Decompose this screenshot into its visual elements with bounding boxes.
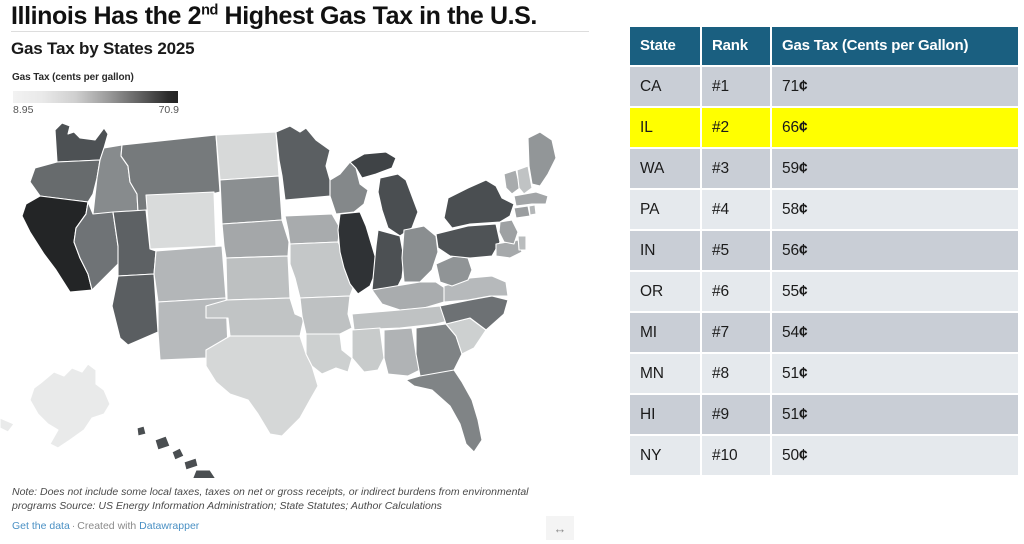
- cell-rank: #4: [702, 190, 770, 229]
- state-HI[interactable]: [137, 426, 218, 478]
- cents-symbol: ¢: [799, 447, 808, 464]
- table-row[interactable]: WA#359¢: [630, 149, 1018, 188]
- cents-symbol: ¢: [799, 365, 808, 382]
- gas-tax-table: State Rank Gas Tax (Cents per Gallon) CA…: [628, 25, 1020, 477]
- table-header-row: State Rank Gas Tax (Cents per Gallon): [630, 27, 1018, 65]
- title-divider: [11, 31, 589, 32]
- column-header-gas-tax[interactable]: Gas Tax (Cents per Gallon): [772, 27, 1018, 65]
- cents-symbol: ¢: [799, 406, 808, 423]
- resize-handle-icon[interactable]: ↔: [546, 516, 574, 540]
- legend-title: Gas Tax (cents per gallon): [12, 72, 134, 83]
- us-states-map-svg[interactable]: [0, 118, 600, 478]
- cell-rank: #10: [702, 436, 770, 475]
- state-MS[interactable]: [352, 328, 384, 372]
- table-row[interactable]: OR#655¢: [630, 272, 1018, 311]
- cents-symbol: ¢: [799, 78, 808, 95]
- cell-gas-tax: 71¢: [772, 67, 1018, 106]
- cell-gas-tax: 54¢: [772, 313, 1018, 352]
- cell-state: WA: [630, 149, 700, 188]
- cell-gas-tax: 50¢: [772, 436, 1018, 475]
- state-IN[interactable]: [372, 230, 404, 290]
- state-DE[interactable]: [518, 236, 526, 250]
- state-MA[interactable]: [514, 192, 548, 206]
- cell-rank: #1: [702, 67, 770, 106]
- state-SD[interactable]: [220, 176, 282, 224]
- cell-gas-tax: 51¢: [772, 395, 1018, 434]
- state-AZ[interactable]: [112, 274, 158, 345]
- cell-state: OR: [630, 272, 700, 311]
- cell-state: MI: [630, 313, 700, 352]
- created-with-label: Created with: [77, 520, 139, 532]
- table-row[interactable]: MI#754¢: [630, 313, 1018, 352]
- cents-symbol: ¢: [799, 242, 808, 259]
- cell-gas-tax: 55¢: [772, 272, 1018, 311]
- cents-symbol: ¢: [799, 160, 808, 177]
- column-header-rank[interactable]: Rank: [702, 27, 770, 65]
- cell-rank: #7: [702, 313, 770, 352]
- cell-rank: #6: [702, 272, 770, 311]
- cell-rank: #2: [702, 108, 770, 147]
- legend-gradient-bar: [13, 91, 178, 103]
- state-ME[interactable]: [528, 132, 556, 186]
- page-title-prefix: Illinois Has the 2: [11, 2, 201, 30]
- state-NJ[interactable]: [499, 220, 518, 244]
- cell-gas-tax: 59¢: [772, 149, 1018, 188]
- page-title: Illinois Has the 2nd Highest Gas Tax in …: [11, 2, 589, 30]
- page-title-suffix: Highest Gas Tax in the U.S.: [218, 2, 537, 30]
- cell-gas-tax: 58¢: [772, 190, 1018, 229]
- cell-rank: #5: [702, 231, 770, 270]
- cell-gas-tax: 56¢: [772, 231, 1018, 270]
- state-IA[interactable]: [285, 214, 340, 244]
- cents-symbol: ¢: [799, 283, 808, 300]
- cents-symbol: ¢: [799, 324, 808, 341]
- state-WY[interactable]: [146, 192, 216, 249]
- table-row[interactable]: MN#851¢: [630, 354, 1018, 393]
- legend-min-label: 8.95: [13, 104, 33, 116]
- state-AK[interactable]: [30, 364, 110, 448]
- table-row[interactable]: NY#1050¢: [630, 436, 1018, 475]
- table-row[interactable]: CA#171¢: [630, 67, 1018, 106]
- state-NE[interactable]: [222, 220, 289, 258]
- cell-gas-tax: 51¢: [772, 354, 1018, 393]
- cell-state: HI: [630, 395, 700, 434]
- state-ND[interactable]: [216, 132, 279, 180]
- cents-symbol: ¢: [799, 201, 808, 218]
- state-AR[interactable]: [300, 296, 352, 334]
- datawrapper-link[interactable]: Datawrapper: [139, 520, 199, 532]
- cell-rank: #9: [702, 395, 770, 434]
- state-MN[interactable]: [276, 126, 330, 200]
- state-RI[interactable]: [529, 205, 536, 215]
- choropleth-map[interactable]: [0, 118, 600, 478]
- table-body: CA#171¢IL#266¢WA#359¢PA#458¢IN#556¢OR#65…: [630, 67, 1018, 475]
- state-MI-lower[interactable]: [378, 174, 418, 236]
- datawrapper-chart-page: Illinois Has the 2nd Highest Gas Tax in …: [0, 0, 1024, 544]
- state-FL[interactable]: [406, 370, 482, 452]
- chart-credit: Get the data·Created with Datawrapper: [12, 519, 199, 533]
- state-KS[interactable]: [226, 256, 290, 300]
- state-TX[interactable]: [206, 336, 318, 436]
- column-header-state[interactable]: State: [630, 27, 700, 65]
- cell-state: IN: [630, 231, 700, 270]
- map-panel: Illinois Has the 2nd Highest Gas Tax in …: [0, 0, 600, 544]
- table-row[interactable]: IL#266¢: [630, 108, 1018, 147]
- state-NY[interactable]: [444, 180, 514, 228]
- table-row[interactable]: PA#458¢: [630, 190, 1018, 229]
- state-OH[interactable]: [402, 226, 438, 282]
- state-WA[interactable]: [55, 123, 108, 162]
- table-row[interactable]: IN#556¢: [630, 231, 1018, 270]
- page-title-ordinal-suffix: nd: [201, 3, 218, 19]
- cell-state: MN: [630, 354, 700, 393]
- cents-symbol: ¢: [799, 119, 808, 136]
- cell-gas-tax: 66¢: [772, 108, 1018, 147]
- state-AK-aleutians[interactable]: [0, 418, 14, 432]
- chart-subtitle: Gas Tax by States 2025: [11, 39, 194, 59]
- table-row[interactable]: HI#951¢: [630, 395, 1018, 434]
- gas-tax-table-panel: State Rank Gas Tax (Cents per Gallon) CA…: [628, 25, 1014, 477]
- legend-max-label: 70.9: [145, 104, 179, 116]
- state-AL[interactable]: [384, 328, 420, 376]
- cell-state: CA: [630, 67, 700, 106]
- state-PA[interactable]: [436, 224, 500, 258]
- cell-state: IL: [630, 108, 700, 147]
- cell-state: NY: [630, 436, 700, 475]
- state-CO[interactable]: [154, 246, 226, 302]
- cell-rank: #3: [702, 149, 770, 188]
- cell-rank: #8: [702, 354, 770, 393]
- state-CT[interactable]: [514, 206, 530, 218]
- cell-state: PA: [630, 190, 700, 229]
- get-the-data-link[interactable]: Get the data: [12, 520, 70, 532]
- chart-note: Note: Does not include some local taxes,…: [12, 485, 572, 513]
